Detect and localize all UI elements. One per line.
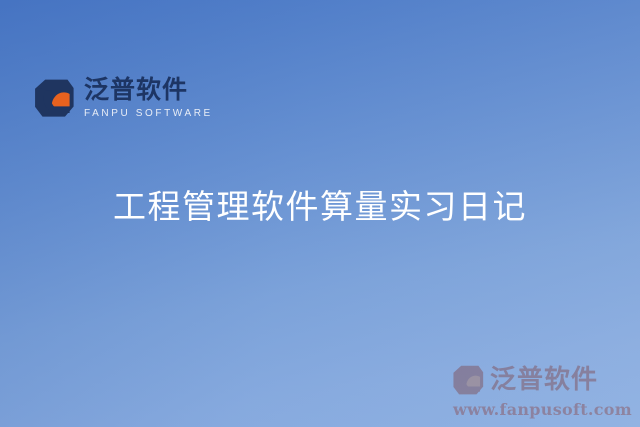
watermark: 泛普软件 www.fanpusoft.com (451, 363, 632, 419)
brand-name-en: FANPU SOFTWARE (84, 109, 213, 119)
watermark-url: www.fanpusoft.com (453, 400, 632, 419)
brand-text-block: 泛普软件 FANPU SOFTWARE (84, 77, 213, 118)
page-title: 工程管理软件算量实习日记 (0, 186, 640, 227)
banner-canvas: 泛普软件 FANPU SOFTWARE 工程管理软件算量实习日记 泛普软件 ww… (0, 0, 640, 427)
brand-lockup: 泛普软件 FANPU SOFTWARE (32, 76, 213, 120)
brand-name-cn: 泛普软件 (84, 77, 213, 103)
watermark-logo-row: 泛普软件 (451, 363, 598, 397)
fanpu-shield-logo-icon (451, 363, 485, 397)
watermark-name-cn: 泛普软件 (490, 367, 598, 393)
fanpu-shield-logo-icon (32, 76, 76, 120)
